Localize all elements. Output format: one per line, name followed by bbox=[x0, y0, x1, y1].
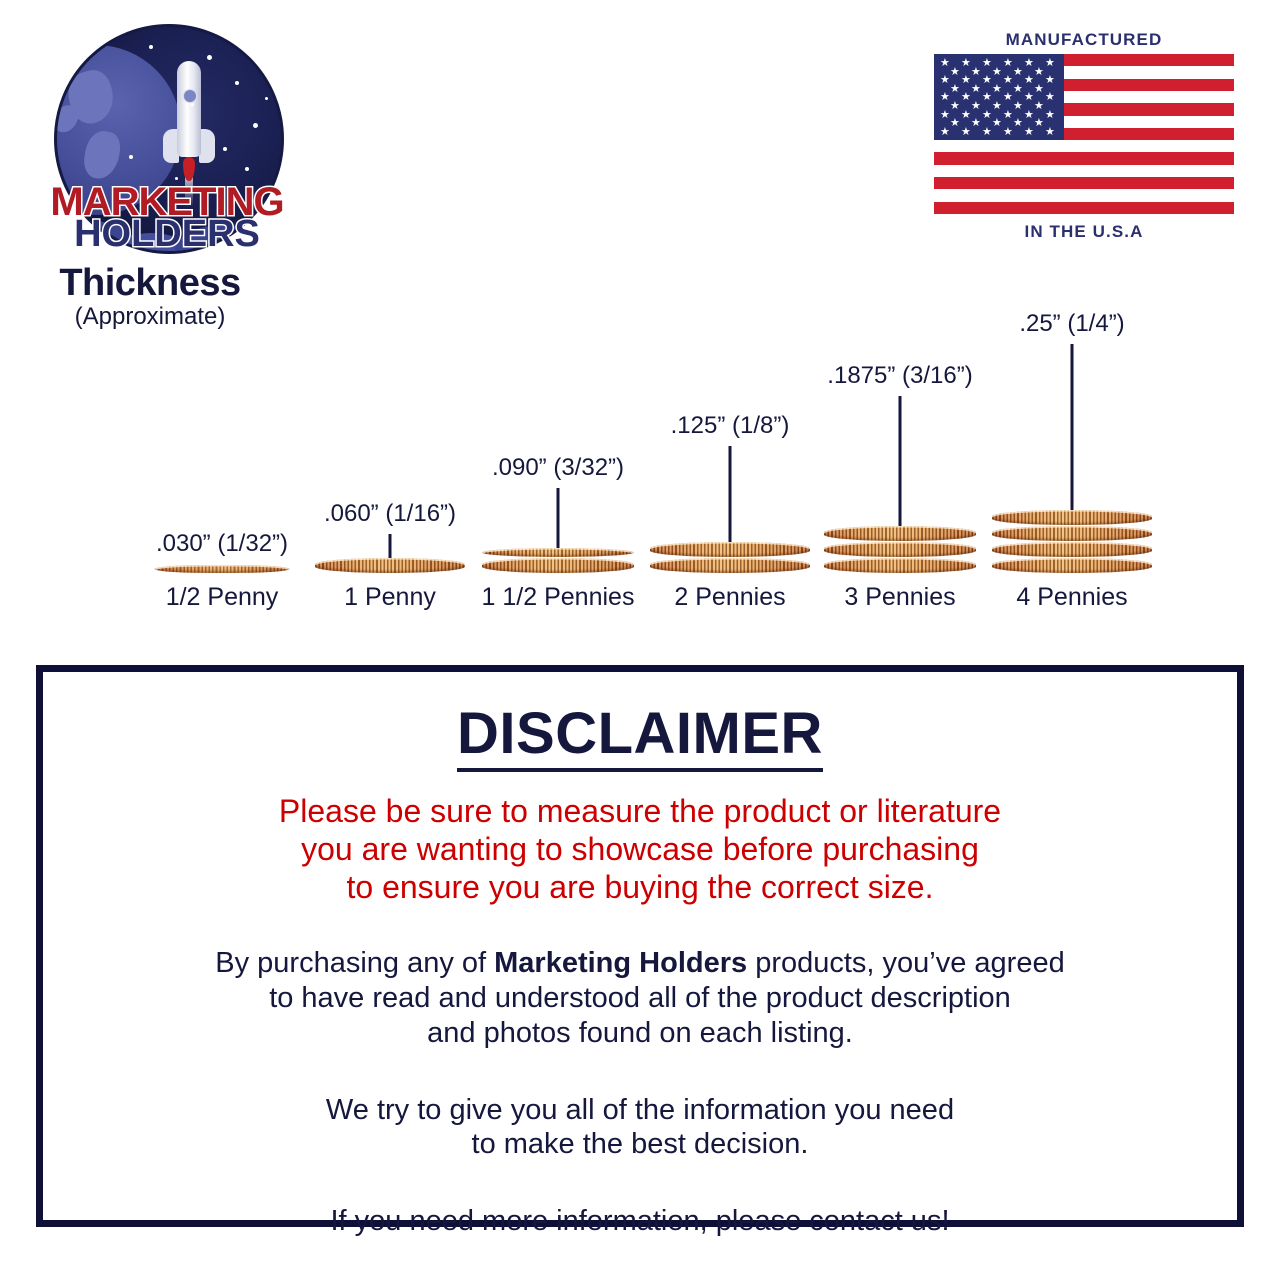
measurement-label: .1875” (3/16”) bbox=[827, 362, 972, 390]
thickness-title: Thickness bbox=[0, 264, 300, 302]
measurement-label: .030” (1/32”) bbox=[156, 530, 288, 558]
flag-star-icon: ★ bbox=[1034, 118, 1044, 129]
flag-star-icon: ★ bbox=[971, 84, 981, 95]
flag-star-icon: ★ bbox=[940, 92, 950, 103]
flag-star-icon: ★ bbox=[1003, 58, 1013, 69]
flag-star-icon: ★ bbox=[982, 58, 992, 69]
flag-star-icon: ★ bbox=[1045, 110, 1055, 121]
penny-coin bbox=[155, 565, 290, 573]
leader-line bbox=[1071, 344, 1074, 510]
penny-count-label: 3 Pennies bbox=[844, 583, 955, 612]
flag-text-below: IN THE U.S.A bbox=[934, 222, 1234, 242]
flag-star-icon: ★ bbox=[961, 127, 971, 138]
logo-wordmark: MARKETING HOLDERS bbox=[42, 184, 292, 252]
disclaimer-paragraph-information: We try to give you all of the informatio… bbox=[43, 1093, 1237, 1163]
penny-stack bbox=[315, 558, 465, 574]
flag-star-icon: ★ bbox=[1034, 67, 1044, 78]
flag-star-icon: ★ bbox=[982, 110, 992, 121]
star-icon bbox=[191, 103, 194, 106]
flag-star-icon: ★ bbox=[971, 101, 981, 112]
flag-star-icon: ★ bbox=[940, 58, 950, 69]
disclaimer-box: DISCLAIMER Please be sure to measure the… bbox=[36, 665, 1244, 1227]
flag-star-icon: ★ bbox=[982, 127, 992, 138]
flag-star-icon: ★ bbox=[961, 110, 971, 121]
flag-canton: ★★★★★★★★★★★★★★★★★★★★★★★★★★★★★★★★★★★★★★★★… bbox=[934, 54, 1064, 140]
flag-star-icon: ★ bbox=[1045, 58, 1055, 69]
penny-coin bbox=[650, 542, 810, 557]
penny-coin bbox=[992, 542, 1152, 557]
agreement-line-1: By purchasing any of Marketing Holders p… bbox=[43, 946, 1237, 981]
measurement-label: .090” (3/32”) bbox=[492, 454, 624, 482]
flag-star-icon: ★ bbox=[1013, 67, 1023, 78]
penny-coin bbox=[824, 558, 976, 573]
penny-column: .25” (1/4”)4 Pennies bbox=[962, 330, 1182, 620]
information-line-2: to make the best decision. bbox=[43, 1127, 1237, 1162]
flag-star-icon: ★ bbox=[1024, 92, 1034, 103]
information-line-1: We try to give you all of the informatio… bbox=[43, 1093, 1237, 1128]
flag-star-icon: ★ bbox=[1013, 84, 1023, 95]
disclaimer-paragraph-agreement: By purchasing any of Marketing Holders p… bbox=[43, 946, 1237, 1050]
flag-star-icon: ★ bbox=[950, 84, 960, 95]
flag-star-icon: ★ bbox=[1045, 127, 1055, 138]
warning-line-1: Please be sure to measure the product or… bbox=[43, 793, 1237, 831]
penny-coin bbox=[992, 558, 1152, 573]
disclaimer-warning: Please be sure to measure the product or… bbox=[43, 793, 1237, 906]
penny-stack bbox=[650, 542, 810, 574]
penny-count-label: 4 Pennies bbox=[1016, 583, 1127, 612]
flag-star-icon: ★ bbox=[940, 127, 950, 138]
penny-coin bbox=[315, 558, 465, 573]
penny-stack bbox=[992, 510, 1152, 574]
flag-star-icon: ★ bbox=[982, 75, 992, 86]
flag-star-icon: ★ bbox=[1013, 118, 1023, 129]
measurement-label: .25” (1/4”) bbox=[1019, 310, 1124, 338]
contact-line-1: If you need more information, please con… bbox=[43, 1204, 1237, 1239]
flag-star-icon: ★ bbox=[971, 67, 981, 78]
flag-star-icon: ★ bbox=[950, 118, 960, 129]
flag-star-icon: ★ bbox=[992, 67, 1002, 78]
flag-star-icon: ★ bbox=[992, 84, 1002, 95]
leader-line bbox=[557, 488, 560, 548]
flag-star-icon: ★ bbox=[940, 110, 950, 121]
penny-count-label: 1 Penny bbox=[344, 583, 436, 612]
flag-star-icon: ★ bbox=[1024, 110, 1034, 121]
flag-stripe bbox=[934, 152, 1234, 164]
flag-star-icon: ★ bbox=[1013, 101, 1023, 112]
flag-star-icon: ★ bbox=[992, 118, 1002, 129]
disclaimer-title: DISCLAIMER bbox=[43, 700, 1237, 767]
agreement-line-3: and photos found on each listing. bbox=[43, 1016, 1237, 1051]
penny-coin bbox=[992, 510, 1152, 525]
infographic-page: MARKETING HOLDERS Thickness (Approximate… bbox=[0, 0, 1280, 1280]
flag-star-icon: ★ bbox=[940, 75, 950, 86]
penny-count-label: 2 Pennies bbox=[674, 583, 785, 612]
flag-star-icon: ★ bbox=[950, 101, 960, 112]
penny-stack bbox=[824, 526, 976, 574]
penny-thickness-chart: .030” (1/32”)1/2 Penny.060” (1/16”)1 Pen… bbox=[0, 330, 1280, 620]
flag-stripe bbox=[934, 177, 1234, 189]
flag-star-icon: ★ bbox=[982, 92, 992, 103]
flag-star-icon: ★ bbox=[1024, 127, 1034, 138]
thickness-subtitle: (Approximate) bbox=[0, 304, 300, 330]
measurement-label: .060” (1/16”) bbox=[324, 500, 456, 528]
made-in-usa-badge: MANUFACTURED ★★★★★★★★★★★★★★★★★★★★★★★★★★★… bbox=[934, 30, 1234, 242]
flag-star-icon: ★ bbox=[1034, 101, 1044, 112]
flag-star-icon: ★ bbox=[950, 67, 960, 78]
flag-star-icon: ★ bbox=[1003, 75, 1013, 86]
flag-star-icon: ★ bbox=[1024, 75, 1034, 86]
star-icon bbox=[253, 123, 258, 128]
penny-stack bbox=[482, 548, 634, 574]
penny-coin bbox=[482, 548, 634, 557]
leader-line bbox=[899, 396, 902, 526]
warning-line-2: you are wanting to showcase before purch… bbox=[43, 831, 1237, 869]
star-icon bbox=[207, 55, 212, 60]
flag-star-icon: ★ bbox=[971, 118, 981, 129]
penny-coin bbox=[992, 526, 1152, 541]
flag-star-icon: ★ bbox=[961, 92, 971, 103]
disclaimer-paragraph-contact: If you need more information, please con… bbox=[43, 1204, 1237, 1239]
leader-line bbox=[389, 534, 392, 558]
warning-line-3: to ensure you are buying the correct siz… bbox=[43, 869, 1237, 907]
penny-count-label: 1 1/2 Pennies bbox=[482, 583, 635, 612]
star-icon bbox=[265, 97, 268, 100]
penny-coin bbox=[824, 542, 976, 557]
star-icon bbox=[129, 155, 133, 159]
penny-stack bbox=[155, 565, 290, 574]
star-icon bbox=[235, 81, 239, 85]
star-icon bbox=[245, 167, 249, 171]
flag-stripe bbox=[934, 202, 1234, 214]
penny-coin bbox=[482, 558, 634, 573]
usa-flag-icon: ★★★★★★★★★★★★★★★★★★★★★★★★★★★★★★★★★★★★★★★★… bbox=[934, 54, 1234, 214]
flag-star-icon: ★ bbox=[992, 101, 1002, 112]
penny-count-label: 1/2 Penny bbox=[166, 583, 279, 612]
leader-line bbox=[729, 446, 732, 542]
flag-star-icon: ★ bbox=[1003, 92, 1013, 103]
star-icon bbox=[223, 147, 227, 151]
flag-star-icon: ★ bbox=[1045, 92, 1055, 103]
flag-star-icon: ★ bbox=[1034, 84, 1044, 95]
logo-brand-line2: HOLDERS bbox=[42, 217, 292, 252]
rocket-icon bbox=[161, 61, 217, 193]
flag-star-icon: ★ bbox=[961, 58, 971, 69]
flag-star-icon: ★ bbox=[1045, 75, 1055, 86]
page-title: Thickness (Approximate) bbox=[0, 264, 300, 330]
penny-coin bbox=[650, 558, 810, 573]
agreement-line-2: to have read and understood all of the p… bbox=[43, 981, 1237, 1016]
brand-name-inline: Marketing Holders bbox=[494, 947, 747, 979]
brand-logo: MARKETING HOLDERS bbox=[42, 24, 292, 262]
flag-star-icon: ★ bbox=[961, 75, 971, 86]
penny-coin bbox=[824, 526, 976, 541]
measurement-label: .125” (1/8”) bbox=[671, 412, 790, 440]
flag-star-icon: ★ bbox=[1003, 110, 1013, 121]
flag-text-above: MANUFACTURED bbox=[934, 30, 1234, 50]
flag-star-icon: ★ bbox=[1003, 127, 1013, 138]
star-icon bbox=[149, 45, 153, 49]
flag-star-icon: ★ bbox=[1024, 58, 1034, 69]
